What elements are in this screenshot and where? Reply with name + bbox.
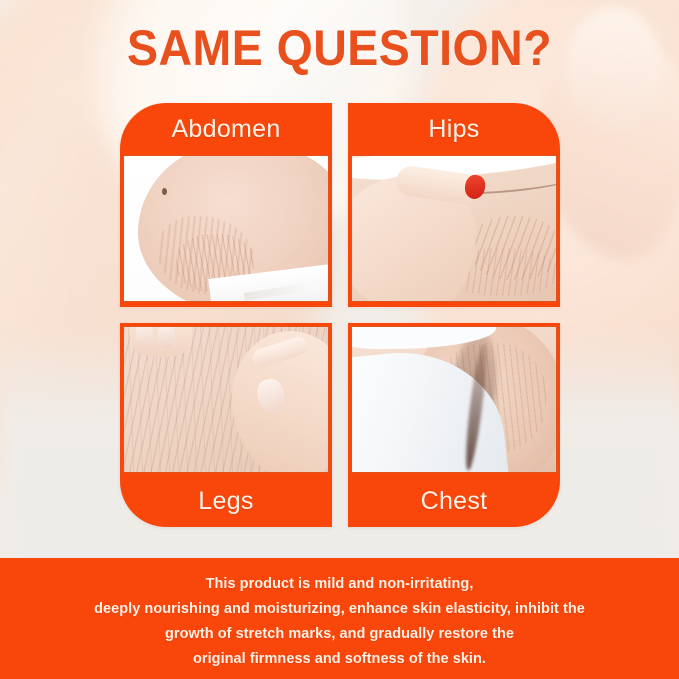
product-description: This product is mild and non-irritating,… (0, 572, 679, 672)
description-line-2: deeply nourishing and moisturizing, enha… (0, 597, 679, 622)
footer-banner: This product is mild and non-irritating,… (0, 558, 679, 679)
description-line-3: growth of stretch marks, and gradually r… (0, 622, 679, 647)
body-area-card-legs: Legs (120, 323, 332, 527)
chest-photo (351, 326, 557, 473)
card-label-legs: Legs (120, 475, 332, 527)
legs-photo (123, 326, 329, 473)
body-area-card-chest: Chest (348, 323, 560, 527)
poster-title: SAME QUESTION? (24, 23, 655, 73)
card-label-hips: Hips (348, 103, 560, 155)
hips-photo (351, 155, 557, 302)
body-area-card-abdomen: Abdomen (120, 103, 332, 307)
card-label-chest: Chest (348, 475, 560, 527)
navel-mark (162, 188, 167, 195)
product-poster: SAME QUESTION? Abdomen Hips (0, 0, 679, 679)
body-area-card-hips: Hips (348, 103, 560, 307)
description-line-4: original firmness and softness of the sk… (0, 647, 679, 672)
abdomen-photo (123, 155, 329, 302)
description-line-1: This product is mild and non-irritating, (0, 572, 679, 597)
body-area-card-grid: Abdomen Hips (120, 103, 560, 527)
card-label-abdomen: Abdomen (120, 103, 332, 155)
